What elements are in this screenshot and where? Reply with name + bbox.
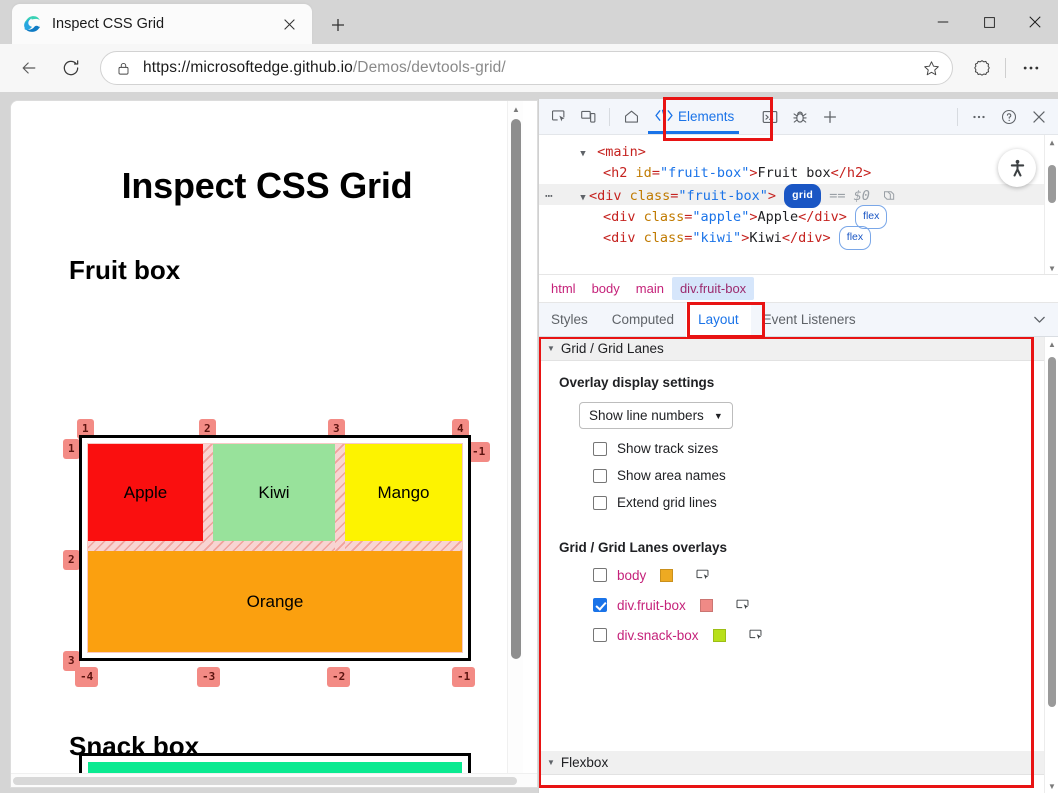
flexbox-section-header[interactable]: ▼ Flexbox (539, 751, 1045, 775)
flexbox-section-title: Flexbox (561, 755, 608, 770)
grid-cell-mango: Mango (345, 444, 462, 541)
devtools-close-icon[interactable] (1024, 103, 1054, 131)
breadcrumb-item-main[interactable]: main (628, 277, 672, 300)
apple-endtag: </div> (798, 209, 847, 225)
devtools-subtabs: Styles Computed Layout Event Listeners (539, 303, 1058, 337)
url-domain: https://microsoftedge.github.io (143, 59, 353, 76)
lock-icon (113, 58, 133, 78)
overlay-name-body[interactable]: body (617, 568, 646, 583)
apple-attrval: "apple" (692, 209, 749, 225)
tab-strip: Inspect CSS Grid (0, 0, 1058, 44)
chevron-down-icon[interactable] (1031, 311, 1048, 333)
welcome-home-icon[interactable] (616, 103, 646, 131)
new-tab-button[interactable] (322, 10, 354, 40)
address-bar-row: https://microsoftedge.github.io/Demos/de… (0, 44, 1058, 92)
tree-scroll-up-icon[interactable]: ▲ (1045, 135, 1058, 149)
tree-scroll-thumb[interactable] (1048, 165, 1056, 203)
checkbox-label-track-sizes: Show track sizes (617, 441, 718, 456)
scroll-thumb-horizontal[interactable] (13, 777, 517, 785)
fruit-box-overlay-wrap: 1 2 3 4 1 2 3 -1 -4 -3 -2 -1 (11, 419, 523, 681)
tab-close-icon[interactable] (276, 11, 302, 37)
twisty-icon[interactable]: ▼ (577, 144, 589, 165)
overlay-name-fruit-box[interactable]: div.fruit-box (617, 598, 686, 613)
checkbox-overlay-fruit-box[interactable] (593, 598, 607, 612)
add-panel-button[interactable] (815, 103, 845, 131)
checkbox-label-area-names: Show area names (617, 468, 726, 483)
star-icon[interactable] (916, 53, 946, 83)
toolbar-separator (1005, 58, 1006, 78)
overlay-row-body[interactable]: body (593, 567, 1058, 583)
page-viewport: Inspect CSS Grid Fruit box 1 2 3 4 1 2 3… (10, 100, 538, 788)
caret-down-icon-flexbox[interactable]: ▼ (547, 758, 555, 767)
checkbox-label-extend-grid-lines: Extend grid lines (617, 495, 717, 510)
edge-logo-icon (22, 14, 42, 34)
layout-pane-scrollbar[interactable]: ▲ ▼ (1044, 337, 1058, 793)
fruitbox-attrval: "fruit-box" (678, 188, 767, 204)
debug-bug-icon[interactable] (785, 103, 815, 131)
h2-attrval: "fruit-box" (660, 165, 749, 181)
toolbar-divider-right (957, 108, 958, 126)
window-controls (920, 0, 1058, 44)
devtools-toolbar: Elements (539, 99, 1058, 135)
overlay-display-settings-title: Overlay display settings (559, 375, 1058, 390)
line-numbers-select-value: Show line numbers (589, 408, 704, 423)
web-page-content: Inspect CSS Grid Fruit box 1 2 3 4 1 2 3… (11, 101, 523, 787)
tree-row-apple[interactable]: <div class="apple">Apple</div> flex (539, 205, 1058, 226)
overlay-color-swatch-body[interactable] (660, 569, 673, 582)
device-emulation-icon[interactable] (573, 103, 603, 131)
close-window-button[interactable] (1012, 0, 1058, 44)
checkbox-overlay-body[interactable] (593, 568, 607, 582)
chevron-down-icon-select: ▼ (714, 411, 723, 421)
kiwi-endtag: </div> (782, 230, 831, 246)
fruitbox-open: <div (589, 188, 630, 204)
tab-elements-label: Elements (678, 109, 734, 124)
grid-cell-apple: Apple (88, 444, 203, 541)
tab-event-listeners[interactable]: Event Listeners (751, 303, 868, 337)
console-ref-label: == $0 (829, 188, 870, 204)
checkbox-extend-grid-lines[interactable]: Extend grid lines (593, 495, 1058, 510)
grid-col-line-neg-3: -3 (197, 667, 220, 687)
tree-scroll-down-icon[interactable]: ▼ (1045, 261, 1058, 275)
pane-scroll-thumb[interactable] (1048, 357, 1056, 707)
grid-col-line-neg-2: -2 (327, 667, 350, 687)
scroll-thumb[interactable] (511, 119, 521, 659)
kiwi-attrval: "kiwi" (692, 230, 741, 246)
grid-overlays-title: Grid / Grid Lanes overlays (559, 540, 1058, 555)
overlay-color-swatch-fruit-box[interactable] (700, 599, 713, 612)
layout-pane-body: Overlay display settings Show line numbe… (539, 361, 1058, 643)
grid-row-line-1: 1 (63, 439, 80, 459)
show-element-icon-snack-box[interactable] (748, 627, 764, 643)
h2-close-bracket: > (749, 165, 757, 181)
fruitbox-attr: class (630, 188, 671, 204)
grid-row-line-2: 2 (63, 550, 80, 570)
toolbar-divider (609, 108, 610, 126)
browser-window: Inspect CSS Grid (0, 0, 1058, 793)
checkbox-box-extend-grid-lines[interactable] (593, 496, 607, 510)
back-button[interactable] (12, 51, 46, 85)
snack-box-heading: Snack box (11, 693, 199, 762)
show-element-icon-fruit-box[interactable] (735, 597, 751, 613)
kiwi-attr: class (644, 230, 685, 246)
inspect-element-icon[interactable] (543, 103, 573, 131)
pane-scroll-up-icon[interactable]: ▲ (1045, 337, 1058, 351)
overlay-name-snack-box[interactable]: div.snack-box (617, 628, 699, 643)
breadcrumb: html body main div.fruit-box (539, 275, 1058, 303)
tree-row-partial[interactable]: <div class="container"> (539, 135, 1058, 142)
tree-row-main[interactable]: ▼ <main> (539, 142, 1058, 163)
tree-row-h2[interactable]: <h2 id="fruit-box">Fruit box</h2> (539, 163, 1058, 184)
h2-endtag: </h2> (831, 165, 872, 181)
fruitbox-close-bracket: > (768, 188, 776, 204)
pane-scroll-down-icon[interactable]: ▼ (1045, 779, 1058, 793)
grid-col-line-neg-1: -1 (452, 667, 475, 687)
apple-open: <div (603, 209, 644, 225)
h2-open: < (603, 165, 611, 181)
checkbox-box-area-names[interactable] (593, 469, 607, 483)
url-bar[interactable]: https://microsoftedge.github.io/Demos/de… (100, 51, 953, 85)
tab-layout[interactable]: Layout (686, 303, 751, 337)
tab-title: Inspect CSS Grid (52, 16, 276, 32)
h2-eq: = (652, 165, 660, 181)
devtools-panel: Elements (538, 99, 1058, 793)
console-icon[interactable] (755, 103, 785, 131)
tab-computed[interactable]: Computed (600, 303, 686, 337)
caret-down-icon[interactable]: ▼ (547, 344, 555, 353)
apple-attr: class (644, 209, 685, 225)
page-vertical-scrollbar[interactable]: ▲ ▼ (507, 101, 523, 787)
url-path: /Demos/devtools-grid/ (353, 59, 506, 76)
overlay-row-fruit-box[interactable]: div.fruit-box (593, 597, 1058, 613)
tree-row-kiwi[interactable]: <div class="kiwi">Kiwi</div> flex (539, 226, 1058, 247)
overlay-row-snack-box[interactable]: div.snack-box (593, 627, 1058, 643)
h2-attr: id (636, 165, 652, 181)
grid-col-line-neg-4: -4 (75, 667, 98, 687)
flex-badge-kiwi[interactable]: flex (839, 226, 871, 250)
page-horizontal-scrollbar[interactable] (11, 773, 538, 787)
overlay-color-swatch-snack-box[interactable] (713, 629, 726, 642)
browser-tab[interactable]: Inspect CSS Grid (12, 4, 312, 44)
grid-cell-orange: Orange (88, 551, 462, 652)
fruit-box-heading: Fruit box (11, 207, 523, 286)
grid-row-gap (88, 541, 462, 551)
show-element-icon-body[interactable] (695, 567, 711, 583)
tree-row-main-text: <main> (597, 144, 646, 160)
accessibility-icon[interactable] (998, 149, 1036, 187)
line-numbers-select[interactable]: Show line numbers ▼ (579, 402, 733, 429)
help-circle-icon[interactable] (994, 103, 1024, 131)
tree-row-fruitbox[interactable]: ⋯ ▼<div class="fruit-box"> grid == $0 (539, 184, 1058, 205)
h2-tagname: h2 (611, 165, 627, 181)
code-brackets-icon (653, 108, 675, 126)
page-title: Inspect CSS Grid (11, 101, 523, 207)
checkbox-show-track-sizes[interactable]: Show track sizes (593, 441, 1058, 456)
fruit-box-grid: Apple Kiwi Mango Orange (79, 435, 471, 661)
scroll-up-icon[interactable]: ▲ (508, 101, 524, 117)
reload-button[interactable] (54, 51, 88, 85)
minimize-button[interactable] (920, 0, 966, 44)
more-options-icon[interactable] (1012, 51, 1050, 85)
checkbox-box-track-sizes[interactable] (593, 442, 607, 456)
copy-styles-icon[interactable] (882, 188, 897, 204)
collections-icon[interactable] (965, 51, 999, 85)
maximize-button[interactable] (966, 0, 1012, 44)
tree-row-menu-icon[interactable]: ⋯ (545, 186, 554, 207)
h2-text: Fruit box (758, 165, 831, 181)
dom-tree[interactable]: <div class="container"> ▼ <main> <h2 id=… (539, 135, 1058, 275)
tree-row-partial-text: <div class="container"> (563, 135, 750, 139)
breadcrumb-item-div-fruit-box[interactable]: div.fruit-box (672, 277, 754, 300)
tab-elements[interactable]: Elements (646, 100, 741, 134)
url-text: https://microsoftedge.github.io/Demos/de… (143, 59, 916, 77)
kiwi-open: <div (603, 230, 644, 246)
grid-cell-kiwi: Kiwi (213, 444, 335, 541)
pane-bottom-strip (539, 775, 1045, 793)
grid-section-title: Grid / Grid Lanes (561, 341, 664, 356)
grid-section-header[interactable]: ▼ Grid / Grid Lanes (539, 337, 1058, 361)
dom-tree-scrollbar[interactable]: ▲ ▼ (1044, 135, 1058, 275)
tab-styles[interactable]: Styles (539, 303, 600, 337)
apple-text: Apple (757, 209, 798, 225)
checkbox-show-area-names[interactable]: Show area names (593, 468, 1058, 483)
breadcrumb-item-html[interactable]: html (543, 277, 584, 300)
layout-pane: ▼ Grid / Grid Lanes Overlay display sett… (539, 337, 1058, 793)
breadcrumb-item-body[interactable]: body (584, 277, 628, 300)
devtools-more-icon[interactable] (964, 103, 994, 131)
kiwi-text: Kiwi (749, 230, 782, 246)
checkbox-overlay-snack-box[interactable] (593, 628, 607, 642)
